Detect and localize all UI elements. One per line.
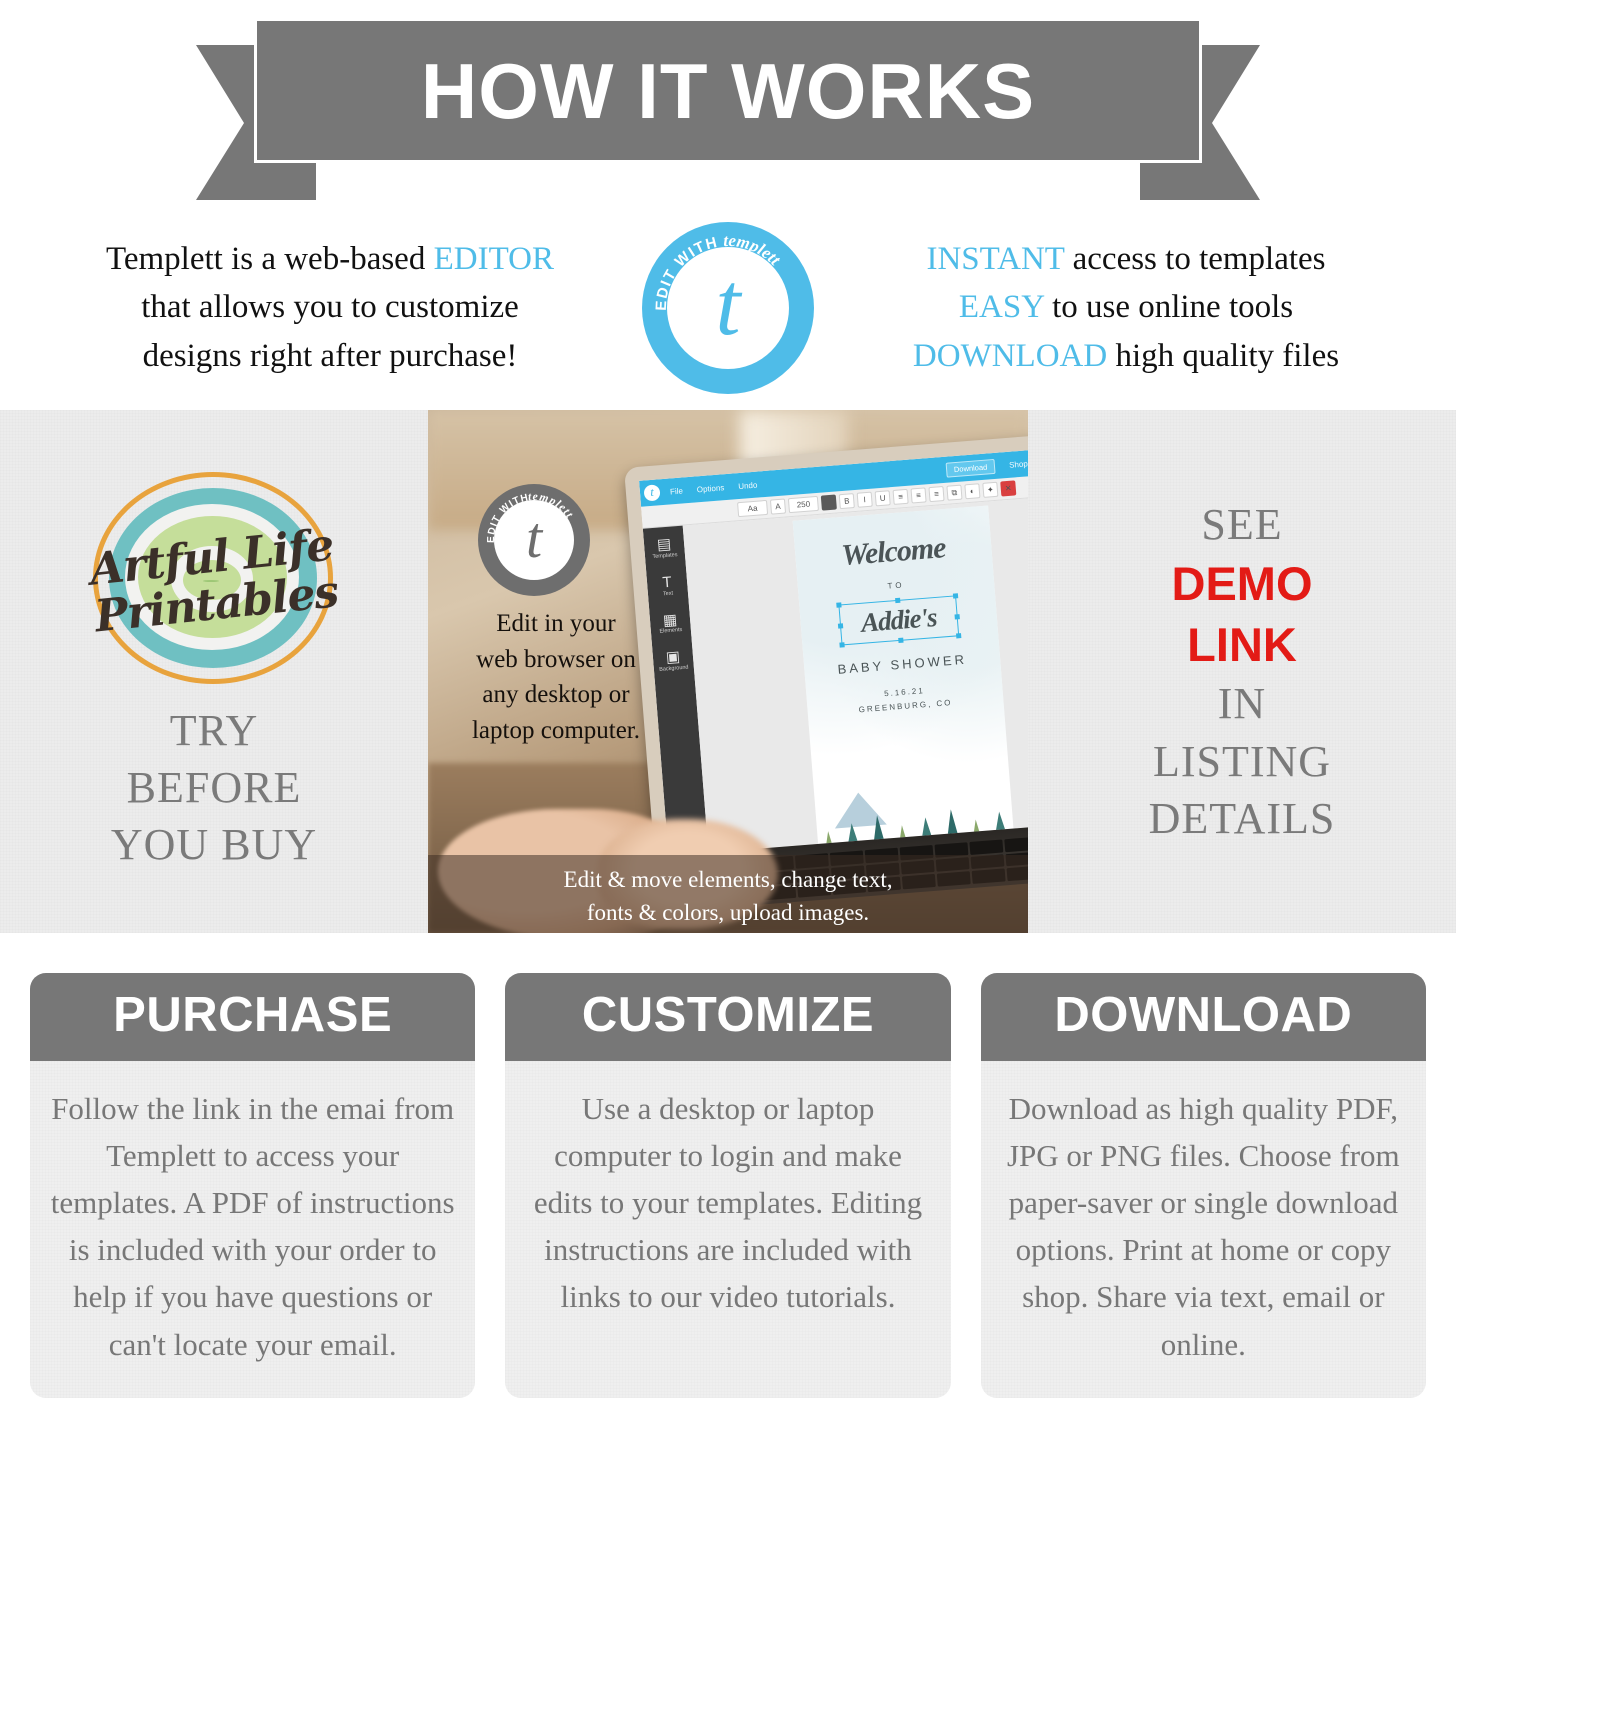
demo-line-5: LISTING — [1149, 733, 1336, 790]
intro-right-line3-highlight: DOWNLOAD — [913, 338, 1107, 374]
artful-life-printables-logo: Artful Life Printables — [83, 470, 345, 692]
demo-line-4: IN — [1149, 675, 1336, 732]
laptop-photo: t File Options Undo Download Shop Admin … — [428, 410, 1028, 933]
template-welcome-text[interactable]: Welcome — [794, 527, 992, 576]
handle-bottom-right[interactable] — [956, 633, 961, 638]
edit-caption-line-1: Edit in your — [456, 606, 656, 642]
photo-bottom-caption: Edit & move elements, change text, fonts… — [428, 855, 1028, 933]
badge-arc-text: EDIT WITH templett EDITABLE TEMPLATE — [478, 484, 590, 596]
font-family-select[interactable]: Aa — [737, 500, 768, 517]
badge-brand-label: templett — [723, 230, 785, 269]
handle-top-center[interactable] — [895, 598, 900, 603]
intro-right-line3: DOWNLOAD high quality files — [826, 332, 1426, 380]
template-name-selection-box[interactable]: Addie's — [838, 595, 959, 645]
intro-right-line1: INSTANT access to templates — [826, 235, 1426, 283]
sidebar-item-templates[interactable]: ▤ Templates — [644, 536, 686, 561]
demo-link-text: SEE DEMO LINK IN LISTING DETAILS — [1149, 496, 1336, 847]
text-icon: T — [647, 573, 688, 592]
editor-logo-icon: t — [643, 484, 660, 501]
try-line-1: TRY — [111, 702, 317, 759]
handle-left-center[interactable] — [838, 623, 843, 628]
bottom-caption-line-1: Edit & move elements, change text, — [428, 863, 1028, 896]
page-banner: HOW IT WORKS — [0, 0, 1456, 205]
intro-left-text: Templett is a web-based EDITOR that allo… — [30, 235, 636, 380]
bottom-caption-line-2: fonts & colors, upload images. — [428, 896, 1028, 929]
editor-menu-undo[interactable]: Undo — [738, 480, 758, 490]
intro-left-line1: Templett is a web-based EDITOR — [30, 235, 630, 283]
copy-button[interactable]: ⧉ — [946, 485, 962, 501]
align-center-button[interactable]: ≡ — [910, 487, 926, 503]
intro-right-line2-highlight: EASY — [959, 289, 1044, 325]
templates-icon: ▤ — [644, 536, 685, 555]
templett-badge-header: t EDIT WITH templett EDITABLE TEMPLATE — [642, 222, 814, 394]
edit-caption-line-3: any desktop or — [456, 677, 656, 713]
handle-bottom-center[interactable] — [898, 638, 903, 643]
handle-top-right[interactable] — [953, 593, 958, 598]
logo-wordmark: Artful Life Printables — [72, 457, 356, 705]
steps-cards: PURCHASE Follow the link in the emai fro… — [0, 933, 1456, 1432]
editor-menu-options[interactable]: Options — [696, 483, 724, 494]
align-left-button[interactable]: ≡ — [893, 489, 909, 505]
laptop-screen: t File Options Undo Download Shop Admin … — [639, 445, 1028, 856]
sidebar-label-text: Text — [663, 590, 674, 597]
templett-badge-photo: t EDIT WITH templett EDITABLE TEMPLATE — [478, 484, 590, 596]
intro-left-line1-highlight: EDITOR — [434, 241, 554, 277]
intro-left-line1-plain: Templett is a web-based — [106, 241, 434, 277]
demo-line-6: DETAILS — [1149, 790, 1336, 847]
underline-button[interactable]: U — [875, 490, 891, 506]
card-purchase-title: PURCHASE — [30, 973, 475, 1061]
card-customize: CUSTOMIZE Use a desktop or laptop comput… — [505, 973, 950, 1398]
intro-right-line2-plain: to use online tools — [1044, 289, 1293, 325]
sidebar-item-text[interactable]: T Text — [647, 573, 689, 598]
demo-line-3: LINK — [1149, 614, 1336, 675]
intro-right-line1-plain: access to templates — [1064, 241, 1325, 277]
demo-line-2: DEMO — [1149, 553, 1336, 614]
card-customize-title: CUSTOMIZE — [505, 973, 950, 1061]
card-download: DOWNLOAD Download as high quality PDF, J… — [981, 973, 1426, 1398]
align-right-button[interactable]: ≡ — [928, 486, 944, 502]
middle-left-column: Artful Life Printables TRY BEFORE YOU BU… — [0, 410, 428, 933]
handle-bottom-left[interactable] — [839, 642, 844, 647]
intro-right-line2: EASY to use online tools — [826, 283, 1426, 331]
editor-body: ▤ Templates T Text ▦ Elements — [643, 493, 1028, 856]
badge-arc-text: EDIT WITH templett EDITABLE TEMPLATE — [642, 222, 814, 394]
badge-brand-label: templett — [528, 491, 576, 521]
badge-bottom-label: EDITABLE TEMPLATE — [492, 538, 576, 582]
card-customize-body: Use a desktop or laptop computer to logi… — [505, 1061, 950, 1351]
edit-caption-line-2: web browser on — [456, 642, 656, 678]
color-swatch[interactable] — [821, 494, 837, 510]
template-name-text[interactable]: Addie's — [840, 600, 958, 640]
intro-right-line3-plain: high quality files — [1107, 338, 1339, 374]
page-title: HOW IT WORKS — [421, 52, 1035, 130]
template-preview[interactable]: Welcome TO Addie's — [793, 506, 1014, 850]
handle-top-left[interactable] — [836, 602, 841, 607]
italic-button[interactable]: I — [857, 492, 873, 508]
middle-center-column: t File Options Undo Download Shop Admin … — [428, 410, 1028, 933]
try-line-2: BEFORE — [111, 759, 317, 816]
editor-menu-file[interactable]: File — [670, 486, 684, 496]
intro-section: Templett is a web-based EDITOR that allo… — [0, 205, 1456, 410]
badge-top-label: EDIT WITH — [486, 492, 530, 543]
middle-section: Artful Life Printables TRY BEFORE YOU BU… — [0, 410, 1456, 933]
card-download-title: DOWNLOAD — [981, 973, 1426, 1061]
sidebar-label-elements: Elements — [659, 627, 682, 635]
template-to-text[interactable]: TO — [798, 573, 994, 597]
edit-in-browser-caption: Edit in your web browser on any desktop … — [456, 606, 656, 748]
badge-top-label: EDIT WITH — [653, 233, 720, 310]
bold-button[interactable]: B — [839, 493, 855, 509]
demo-line-1: SEE — [1149, 496, 1336, 553]
delete-button[interactable]: ✕ — [1000, 480, 1016, 496]
editor-canvas[interactable]: Welcome TO Addie's — [683, 493, 1028, 856]
intro-right-text: INSTANT access to templates EASY to use … — [820, 235, 1426, 380]
card-download-body: Download as high quality PDF, JPG or PNG… — [981, 1061, 1426, 1398]
banner-box: HOW IT WORKS — [254, 18, 1202, 163]
settings-button[interactable]: ✦ — [982, 482, 998, 498]
card-purchase: PURCHASE Follow the link in the emai fro… — [30, 973, 475, 1398]
edit-caption-line-4: laptop computer. — [456, 713, 656, 749]
editor-download-button[interactable]: Download — [945, 458, 995, 477]
sidebar-label-background: Background — [659, 665, 689, 673]
laptop-device: t File Options Undo Download Shop Admin … — [624, 431, 1028, 867]
intro-right-line1-highlight: INSTANT — [926, 241, 1064, 277]
try-before-you-buy-text: TRY BEFORE YOU BUY — [111, 702, 317, 874]
card-purchase-body: Follow the link in the emai from Templet… — [30, 1061, 475, 1398]
opacity-button[interactable]: ◐ — [964, 483, 980, 499]
font-color-icon[interactable]: A — [770, 498, 786, 514]
sidebar-label-templates: Templates — [652, 552, 677, 560]
try-line-3: YOU BUY — [111, 816, 317, 873]
badge-bottom-label: EDITABLE TEMPLATE — [664, 307, 792, 371]
template-event-text[interactable]: BABY SHOWER — [804, 649, 1001, 679]
middle-right-column: SEE DEMO LINK IN LISTING DETAILS — [1028, 410, 1456, 933]
intro-left-line3: designs right after purchase! — [30, 332, 630, 380]
handle-right-center[interactable] — [954, 614, 959, 619]
sidebar-item-background[interactable]: ▣ Background — [652, 648, 694, 673]
editor-nav-shop[interactable]: Shop — [1009, 459, 1028, 469]
font-size-input[interactable]: 250 — [788, 496, 819, 513]
intro-left-line2: that allows you to customize — [30, 283, 630, 331]
